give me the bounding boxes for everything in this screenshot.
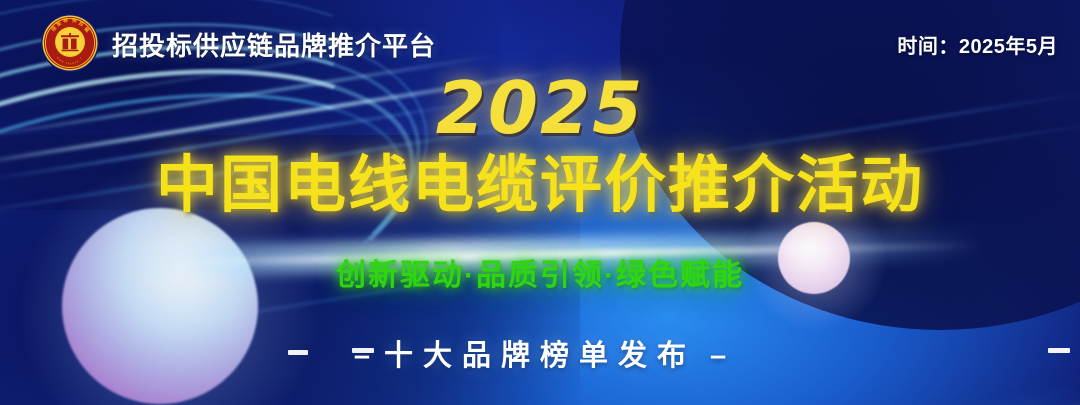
seal-logo-icon: 招 投 标 供 应 链 w w w . z b z b s p: [40, 13, 100, 73]
platform-seal-logo: 招 投 标 供 应 链 w w w . z b z b s p: [40, 13, 100, 73]
platform-name-text: 招投标供应链品牌推介平台: [112, 26, 436, 63]
light-streak: [5, 397, 1080, 405]
light-streak: [1, 384, 1080, 405]
footer-line-text: 十大品牌榜单发布: [384, 340, 696, 372]
event-banner: 招 投 标 供 应 链 w w w . z b z b s p: [0, 0, 1080, 405]
event-main-title: 中国电线电缆评价推介活动: [0, 153, 1080, 218]
footer-dash-left: –: [340, 340, 384, 373]
event-slogan: 创新驱动·品质引领·绿色赋能: [0, 250, 1080, 294]
event-date-label: 时间：2025年5月: [897, 30, 1058, 59]
event-year: 2025: [0, 72, 1080, 144]
footer-dash-right: –: [696, 340, 740, 373]
event-footer-line: –十大品牌榜单发布–: [0, 332, 1080, 374]
